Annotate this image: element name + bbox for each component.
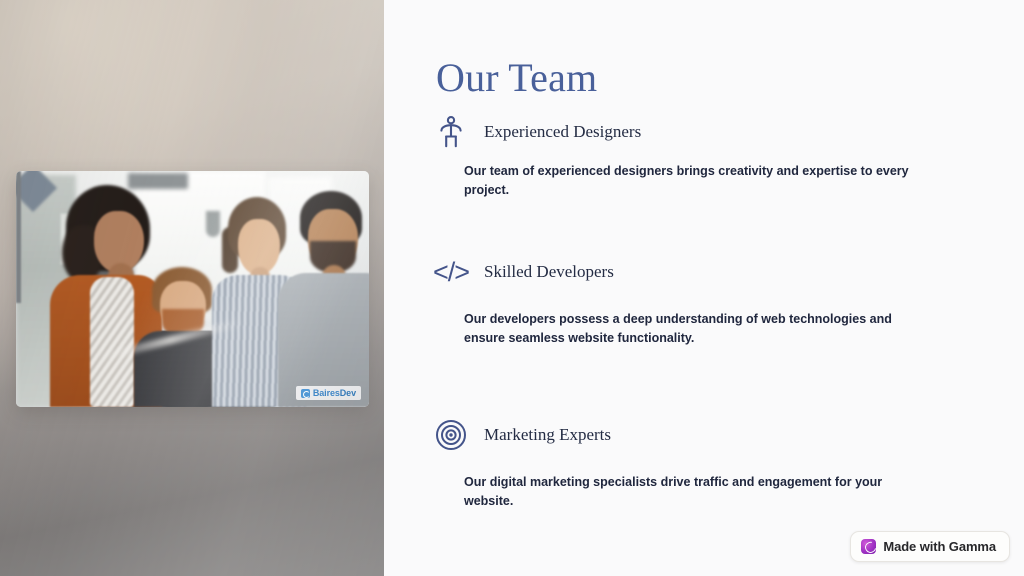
bairesdev-wordmark: BairesDev: [313, 388, 356, 398]
code-brackets-icon: </>: [432, 252, 470, 292]
role-description-designers: Our team of experienced designers brings…: [384, 162, 932, 201]
role-description-developers: Our developers possess a deep understand…: [384, 310, 932, 349]
gamma-logo-icon: [861, 539, 876, 554]
code-brackets-glyph: </>: [433, 259, 469, 286]
target-bullseye-icon: [432, 415, 470, 455]
team-role-item-developers: </> Skilled Developers Our developers po…: [384, 252, 1024, 349]
role-header-designers: Experienced Designers: [384, 112, 1024, 152]
bairesdev-brand-second: Dev: [340, 388, 356, 398]
role-description-marketing: Our digital marketing specialists drive …: [384, 473, 932, 512]
team-role-item-designers: Experienced Designers Our team of experi…: [384, 112, 1024, 201]
role-header-marketing: Marketing Experts: [384, 415, 1024, 455]
person-icon: [432, 112, 470, 152]
role-title-designers: Experienced Designers: [484, 121, 641, 143]
made-with-gamma-label: Made with Gamma: [883, 539, 996, 554]
made-with-gamma-badge[interactable]: Made with Gamma: [850, 531, 1010, 562]
team-photo-card: BairesDev: [16, 171, 369, 407]
bairesdev-watermark: BairesDev: [296, 386, 361, 400]
role-header-developers: </> Skilled Developers: [384, 252, 1024, 292]
bairesdev-logo-icon: [301, 389, 310, 398]
page-title: Our Team: [436, 54, 597, 101]
team-role-item-marketing: Marketing Experts Our digital marketing …: [384, 415, 1024, 512]
left-image-panel: BairesDev: [0, 0, 384, 576]
bairesdev-brand-first: Baires: [313, 388, 340, 398]
photo-sheen-overlay: [16, 171, 369, 407]
slide-our-team: BairesDev Our Team Expe: [0, 0, 1024, 576]
content-panel: Our Team Experienced Designers Our team …: [384, 0, 1024, 576]
role-title-developers: Skilled Developers: [484, 261, 614, 283]
role-title-marketing: Marketing Experts: [484, 424, 611, 446]
